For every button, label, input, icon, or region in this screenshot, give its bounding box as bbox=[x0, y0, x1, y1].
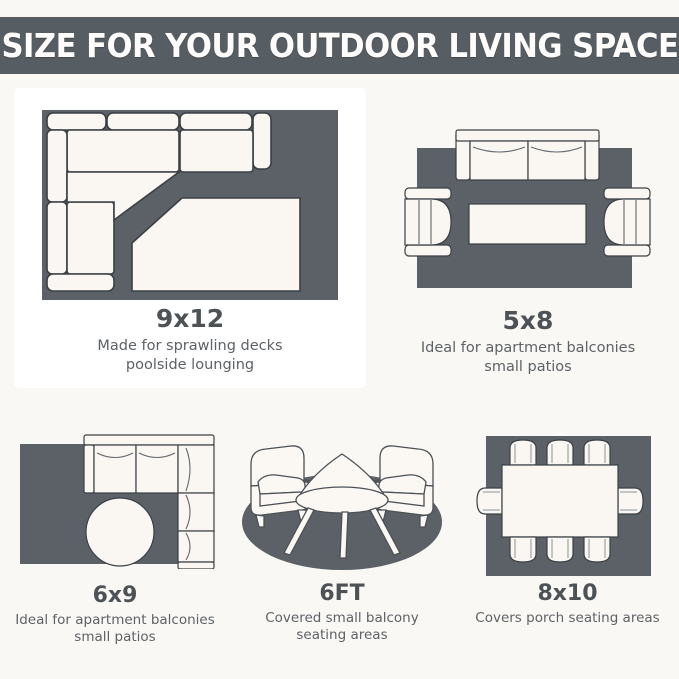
coffee-table-5x8 bbox=[469, 204, 586, 244]
size-label-5x8: 5x8 bbox=[390, 308, 666, 334]
chairs-bottom-8x10 bbox=[510, 537, 610, 562]
caption-8x10: 8x10 Covers porch seating areas bbox=[458, 582, 677, 627]
chairs-top-8x10 bbox=[510, 440, 610, 465]
diagram-6x9 bbox=[16, 434, 216, 569]
caption-9x12: 9x12 Made for sprawling decks poolside l… bbox=[20, 306, 360, 374]
description-line2-5x8: small patios bbox=[390, 358, 666, 377]
page-title: SIZE FOR YOUR OUTDOOR LIVING SPACE bbox=[1, 26, 678, 65]
description-line1-8x10: Covers porch seating areas bbox=[458, 610, 677, 627]
description-line2-6x9: small patios bbox=[8, 629, 222, 646]
size-label-6ft: 6FT bbox=[230, 582, 454, 605]
description-line1-6x9: Ideal for apartment balconies bbox=[8, 612, 222, 629]
caption-5x8: 5x8 Ideal for apartment balconies small … bbox=[390, 308, 666, 376]
diagram-8x10 bbox=[473, 430, 663, 580]
panel-8x10: 8x10 Covers porch seating areas bbox=[460, 430, 676, 674]
panel-5x8: 5x8 Ideal for apartment balconies small … bbox=[390, 120, 666, 385]
size-label-9x12: 9x12 bbox=[20, 306, 360, 332]
diagram-6ft bbox=[238, 430, 446, 570]
armchair-left-5x8 bbox=[405, 188, 451, 256]
chair-left-8x10 bbox=[477, 488, 502, 514]
description-line2-9x12: poolside lounging bbox=[20, 356, 360, 375]
infographic-root: SIZE FOR YOUR OUTDOOR LIVING SPACE bbox=[0, 0, 679, 679]
panel-9x12: 9x12 Made for sprawling decks poolside l… bbox=[14, 88, 366, 388]
diagram-5x8 bbox=[397, 120, 659, 300]
armchair-right-5x8 bbox=[604, 188, 650, 256]
caption-6x9: 6x9 Ideal for apartment balconies small … bbox=[8, 584, 222, 647]
description-line1-5x8: Ideal for apartment balconies bbox=[390, 339, 666, 358]
size-label-6x9: 6x9 bbox=[8, 584, 222, 607]
panel-6ft: 6FT Covered small balcony seating areas bbox=[230, 430, 454, 674]
round-coffee-table-6x9 bbox=[86, 498, 154, 566]
diagram-9x12 bbox=[42, 110, 338, 300]
caption-6ft: 6FT Covered small balcony seating areas bbox=[230, 582, 454, 645]
description-line1-6ft: Covered small balcony bbox=[230, 610, 454, 627]
dining-table-8x10 bbox=[502, 465, 618, 537]
size-label-8x10: 8x10 bbox=[458, 582, 677, 605]
description-line1-9x12: Made for sprawling decks bbox=[20, 337, 360, 356]
header-bar: SIZE FOR YOUR OUTDOOR LIVING SPACE bbox=[0, 17, 679, 74]
chair-right-8x10 bbox=[618, 488, 643, 514]
description-line2-6ft: seating areas bbox=[230, 627, 454, 644]
panel-6x9: 6x9 Ideal for apartment balconies small … bbox=[8, 434, 222, 674]
